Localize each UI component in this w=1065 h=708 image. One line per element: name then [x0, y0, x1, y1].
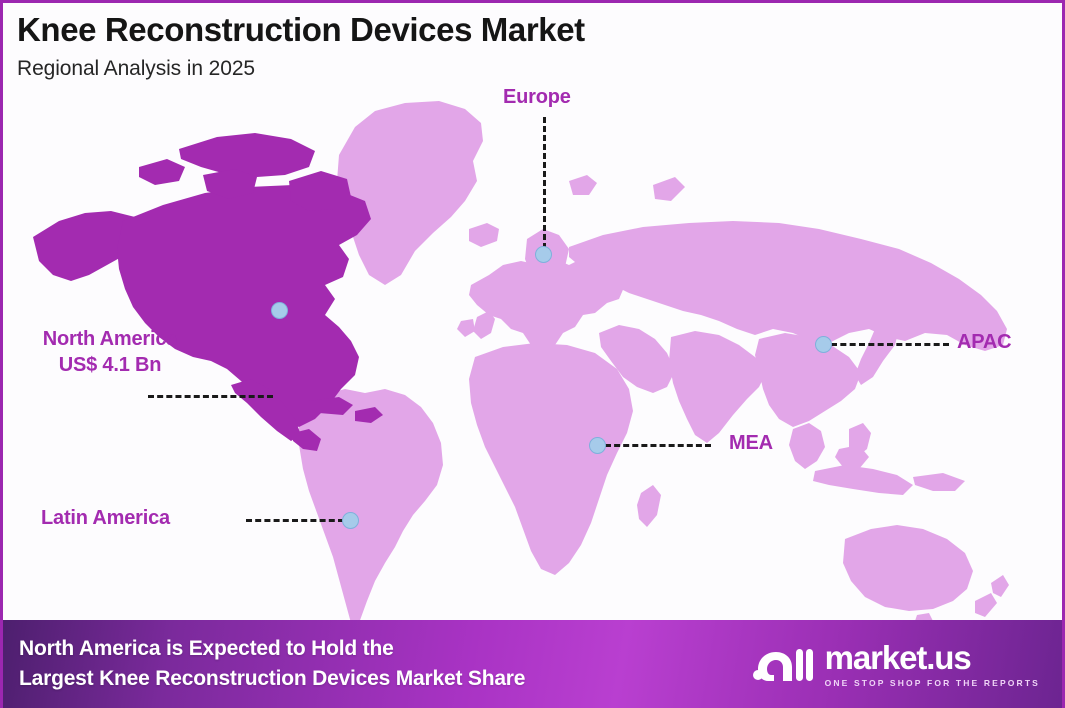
map-marker-apac — [815, 336, 832, 353]
leader-line-latin-america — [246, 519, 344, 522]
region-greenland — [337, 101, 483, 285]
callout-north-america: North America US$ 4.1 Bn — [17, 326, 203, 378]
region-ireland — [457, 319, 475, 337]
region-southeast-asia — [789, 423, 825, 469]
region-novaya-zemlya — [653, 177, 685, 201]
banner-line-2: Largest Knee Reconstruction Devices Mark… — [19, 664, 525, 694]
region-papua-new-guinea — [913, 473, 965, 491]
logo-text-block: market.us ONE STOP SHOP FOR THE REPORTS — [825, 641, 1040, 688]
header: Knee Reconstruction Devices Market Regio… — [17, 11, 1017, 81]
callout-latin-america: Latin America — [41, 506, 170, 531]
callout-north-america-value: US$ 4.1 Bn — [17, 352, 203, 378]
region-new-zealand — [991, 575, 1009, 597]
region-new-zealand-south — [975, 593, 997, 617]
page-subtitle: Regional Analysis in 2025 — [17, 57, 1017, 81]
map-marker-latin-america — [342, 512, 359, 529]
infographic-root: Knee Reconstruction Devices Market Regio… — [0, 0, 1065, 708]
region-arctic-island-small — [139, 159, 185, 185]
region-madagascar — [637, 485, 661, 527]
logo-tagline: ONE STOP SHOP FOR THE REPORTS — [825, 678, 1040, 688]
region-south-asia — [669, 331, 767, 443]
region-africa — [469, 343, 633, 575]
map-marker-europe — [535, 246, 552, 263]
region-south-america — [299, 389, 443, 623]
region-svalbard — [569, 175, 597, 195]
leader-line-mea — [605, 444, 711, 447]
leader-line-apac — [831, 343, 949, 346]
banner-text: North America is Expected to Hold the La… — [19, 634, 525, 694]
banner-line-1: North America is Expected to Hold the — [19, 634, 525, 664]
callout-apac: APAC — [957, 330, 1011, 355]
page-title: Knee Reconstruction Devices Market — [17, 11, 1017, 49]
region-canadian-arctic — [179, 133, 315, 177]
logo-wordmark: market.us — [825, 641, 971, 674]
map-highlight-north-america — [33, 133, 383, 451]
market-us-logo-icon — [752, 641, 814, 687]
callout-mea: MEA — [729, 431, 773, 456]
map-marker-north-america — [271, 302, 288, 319]
leader-line-europe — [543, 117, 546, 249]
market-us-logo[interactable]: market.us ONE STOP SHOP FOR THE REPORTS — [752, 641, 1040, 688]
bottom-banner: North America is Expected to Hold the La… — [3, 620, 1065, 708]
leader-line-north-america — [148, 395, 273, 398]
region-iceland — [469, 223, 499, 247]
region-british-isles — [473, 311, 495, 339]
map-marker-mea — [589, 437, 606, 454]
region-indonesia — [813, 465, 913, 495]
world-map-container: North America US$ 4.1 Bn Europe APAC MEA… — [3, 89, 1062, 623]
region-japan — [855, 321, 899, 385]
region-australia — [843, 525, 973, 611]
region-east-asia — [755, 333, 861, 427]
callout-north-america-label: North America — [43, 328, 177, 350]
callout-europe: Europe — [503, 85, 571, 110]
